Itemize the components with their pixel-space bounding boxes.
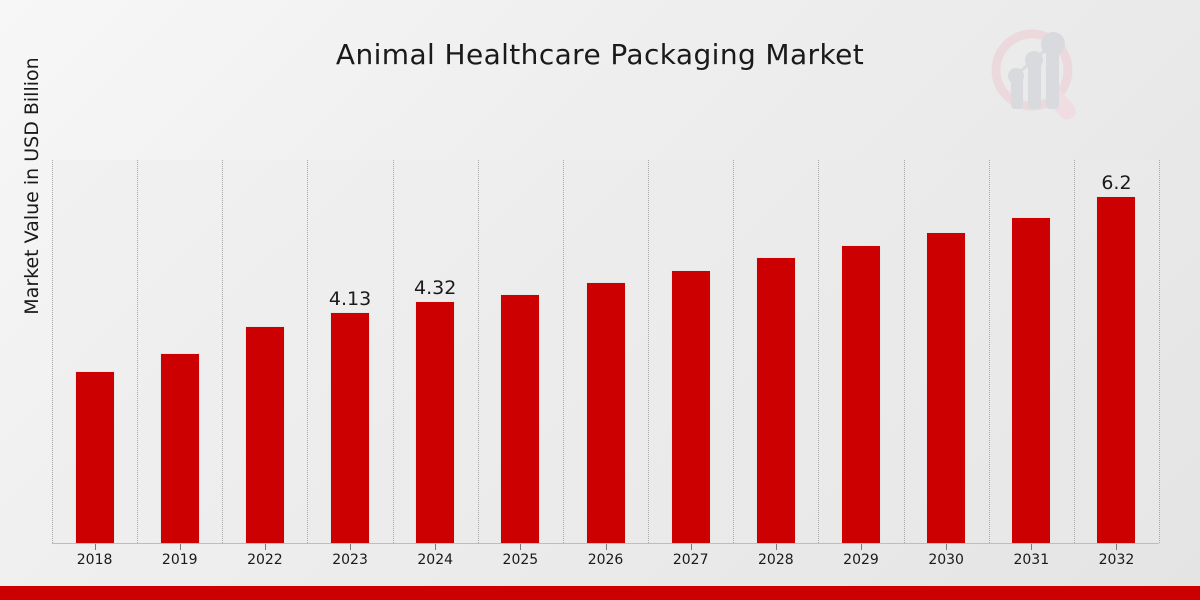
bar-slot <box>733 160 818 543</box>
x-tick: 2028 <box>733 544 818 574</box>
bar[interactable] <box>75 371 115 543</box>
bar[interactable] <box>500 294 540 543</box>
x-tick-label: 2026 <box>563 552 648 568</box>
x-tick: 2031 <box>989 544 1074 574</box>
bar[interactable]: 4.13 <box>330 312 370 543</box>
bar[interactable] <box>1011 217 1051 543</box>
x-tick-label: 2025 <box>478 552 563 568</box>
x-tick: 2023 <box>307 544 392 574</box>
bar-slot: 6.2 <box>1074 160 1159 543</box>
x-tick-label: 2030 <box>904 552 989 568</box>
bar-value-label: 4.13 <box>329 288 371 310</box>
bar-slot: 4.13 <box>307 160 392 543</box>
x-tick: 2032 <box>1074 544 1159 574</box>
bar-slot <box>818 160 903 543</box>
x-tick-label: 2019 <box>137 552 222 568</box>
bar[interactable] <box>841 245 881 543</box>
x-tick-mark <box>861 544 862 550</box>
bar[interactable] <box>160 353 200 543</box>
bar-slot <box>904 160 989 543</box>
y-axis-label: Market Value in USD Billion <box>21 0 43 386</box>
x-tick-mark <box>691 544 692 550</box>
x-tick: 2030 <box>904 544 989 574</box>
x-tick-label: 2023 <box>307 552 392 568</box>
x-tick-label: 2027 <box>648 552 733 568</box>
bar[interactable] <box>586 282 626 543</box>
bar[interactable] <box>756 257 796 543</box>
bar-slot <box>563 160 648 543</box>
x-tick: 2018 <box>52 544 137 574</box>
x-tick-mark <box>350 544 351 550</box>
x-tick-label: 2022 <box>222 552 307 568</box>
x-tick: 2025 <box>478 544 563 574</box>
x-tick-label: 2024 <box>393 552 478 568</box>
x-tick-mark <box>435 544 436 550</box>
bar-slot <box>137 160 222 543</box>
x-tick: 2022 <box>222 544 307 574</box>
x-tick: 2024 <box>393 544 478 574</box>
x-tick: 2029 <box>818 544 903 574</box>
x-tick-label: 2032 <box>1074 552 1159 568</box>
gridline <box>1159 160 1161 543</box>
bar[interactable]: 4.32 <box>415 301 455 543</box>
plot-area: 4.134.326.2 <box>52 160 1159 544</box>
x-axis: 2018201920222023202420252026202720282029… <box>52 544 1159 574</box>
bar-slot <box>478 160 563 543</box>
bar-slot <box>648 160 733 543</box>
bar-slot: 4.32 <box>393 160 478 543</box>
x-tick-mark <box>946 544 947 550</box>
x-tick-mark <box>776 544 777 550</box>
x-tick-mark <box>1031 544 1032 550</box>
bar[interactable] <box>926 232 966 543</box>
bar-slot <box>989 160 1074 543</box>
x-tick: 2027 <box>648 544 733 574</box>
x-tick-mark <box>1116 544 1117 550</box>
x-tick-mark <box>606 544 607 550</box>
bar[interactable] <box>245 326 285 543</box>
x-tick-mark <box>265 544 266 550</box>
page-title: Animal Healthcare Packaging Market <box>0 38 1200 71</box>
chart-figure: Animal Healthcare Packaging Market Marke… <box>0 0 1200 600</box>
footer-band <box>0 586 1200 600</box>
x-tick-mark <box>520 544 521 550</box>
x-tick-label: 2029 <box>818 552 903 568</box>
bar-value-label: 4.32 <box>414 277 456 299</box>
bar[interactable]: 6.2 <box>1096 196 1136 543</box>
x-tick: 2026 <box>563 544 648 574</box>
x-tick-mark <box>95 544 96 550</box>
x-tick-label: 2018 <box>52 552 137 568</box>
x-tick: 2019 <box>137 544 222 574</box>
x-tick-label: 2028 <box>733 552 818 568</box>
bar-slot <box>222 160 307 543</box>
bar[interactable] <box>671 270 711 543</box>
bar-series: 4.134.326.2 <box>52 160 1159 543</box>
bar-value-label: 6.2 <box>1101 172 1131 194</box>
bar-slot <box>52 160 137 543</box>
x-tick-mark <box>180 544 181 550</box>
x-tick-label: 2031 <box>989 552 1074 568</box>
